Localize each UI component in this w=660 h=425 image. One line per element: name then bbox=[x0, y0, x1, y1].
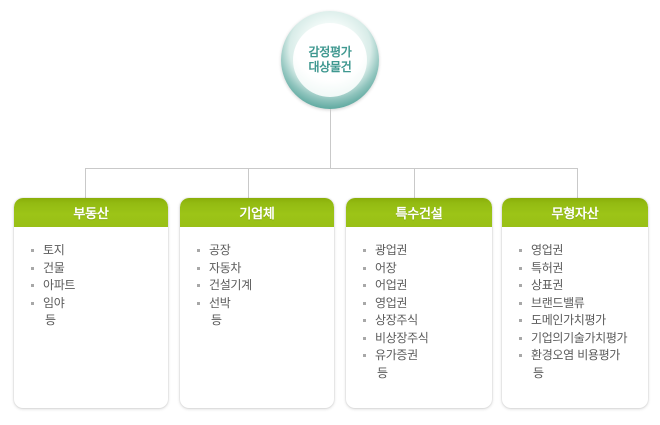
category-body-real-estate: 토지 건물 아파트 임야 등 bbox=[14, 227, 168, 330]
item-list: 공장 자동차 건설기계 선박 등 bbox=[196, 242, 334, 330]
list-item[interactable]: 유가증권 bbox=[362, 347, 492, 365]
list-item[interactable]: 건설기계 bbox=[196, 277, 334, 295]
list-item[interactable]: 영업권 bbox=[362, 295, 492, 313]
category-card-intangible-assets[interactable]: 무형자산 영업권 특허권 상표권 브랜드밸류 도메인가치평가 기업의기술가치평가… bbox=[502, 198, 648, 408]
category-card-special-construction[interactable]: 특수건설 광업권 어장 어업권 영업권 상장주식 비상장주식 유가증권 등 bbox=[346, 198, 492, 408]
category-title: 특수건설 bbox=[395, 203, 442, 222]
root-label-line-1: 감정평가 bbox=[309, 45, 352, 60]
item-list: 영업권 특허권 상표권 브랜드밸류 도메인가치평가 기업의기술가치평가 환경오염… bbox=[518, 242, 648, 382]
list-item[interactable]: 기업의기술가치평가 bbox=[518, 330, 648, 348]
list-item-trailing: 등 bbox=[518, 365, 648, 383]
list-item[interactable]: 자동차 bbox=[196, 260, 334, 278]
root-node-circle[interactable]: 감정평가 대상물건 bbox=[281, 11, 379, 109]
list-item[interactable]: 상표권 bbox=[518, 277, 648, 295]
category-title: 기업체 bbox=[239, 203, 274, 222]
list-item[interactable]: 상장주식 bbox=[362, 312, 492, 330]
connector-drop-1 bbox=[85, 168, 86, 199]
list-item[interactable]: 건물 bbox=[30, 260, 168, 278]
category-body-special-construction: 광업권 어장 어업권 영업권 상장주식 비상장주식 유가증권 등 bbox=[346, 227, 492, 382]
category-body-intangible-assets: 영업권 특허권 상표권 브랜드밸류 도메인가치평가 기업의기술가치평가 환경오염… bbox=[502, 227, 648, 382]
category-header-real-estate: 부동산 bbox=[14, 198, 168, 227]
list-item[interactable]: 특허권 bbox=[518, 260, 648, 278]
category-header-enterprise: 기업체 bbox=[180, 198, 334, 227]
list-item-trailing: 등 bbox=[196, 312, 334, 330]
category-body-enterprise: 공장 자동차 건설기계 선박 등 bbox=[180, 227, 334, 330]
item-list: 광업권 어장 어업권 영업권 상장주식 비상장주식 유가증권 등 bbox=[362, 242, 492, 382]
list-item[interactable]: 선박 bbox=[196, 295, 334, 313]
list-item[interactable]: 영업권 bbox=[518, 242, 648, 260]
list-item[interactable]: 임야 bbox=[30, 295, 168, 313]
root-node-inner: 감정평가 대상물건 bbox=[293, 23, 367, 97]
category-title: 무형자산 bbox=[551, 203, 598, 222]
root-label-line-2: 대상물건 bbox=[309, 60, 352, 75]
list-item[interactable]: 환경오염 비용평가 bbox=[518, 347, 648, 365]
org-chart-diagram: 감정평가 대상물건 부동산 토지 건물 아파트 임야 등 기업체 bbox=[0, 0, 660, 425]
list-item-trailing: 등 bbox=[362, 365, 492, 383]
list-item-trailing: 등 bbox=[30, 312, 168, 330]
connector-horizontal-bus bbox=[85, 168, 578, 169]
item-list: 토지 건물 아파트 임야 등 bbox=[30, 242, 168, 330]
connector-drop-2 bbox=[248, 168, 249, 199]
list-item[interactable]: 도메인가치평가 bbox=[518, 312, 648, 330]
category-header-special-construction: 특수건설 bbox=[346, 198, 492, 227]
connector-drop-4 bbox=[577, 168, 578, 199]
connector-root-stem bbox=[330, 109, 331, 169]
list-item[interactable]: 광업권 bbox=[362, 242, 492, 260]
list-item[interactable]: 아파트 bbox=[30, 277, 168, 295]
list-item[interactable]: 브랜드밸류 bbox=[518, 295, 648, 313]
list-item[interactable]: 공장 bbox=[196, 242, 334, 260]
connector-drop-3 bbox=[414, 168, 415, 199]
category-title: 부동산 bbox=[73, 203, 108, 222]
category-card-enterprise[interactable]: 기업체 공장 자동차 건설기계 선박 등 bbox=[180, 198, 334, 408]
list-item[interactable]: 비상장주식 bbox=[362, 330, 492, 348]
list-item[interactable]: 어장 bbox=[362, 260, 492, 278]
list-item[interactable]: 토지 bbox=[30, 242, 168, 260]
category-card-real-estate[interactable]: 부동산 토지 건물 아파트 임야 등 bbox=[14, 198, 168, 408]
category-header-intangible-assets: 무형자산 bbox=[502, 198, 648, 227]
list-item[interactable]: 어업권 bbox=[362, 277, 492, 295]
